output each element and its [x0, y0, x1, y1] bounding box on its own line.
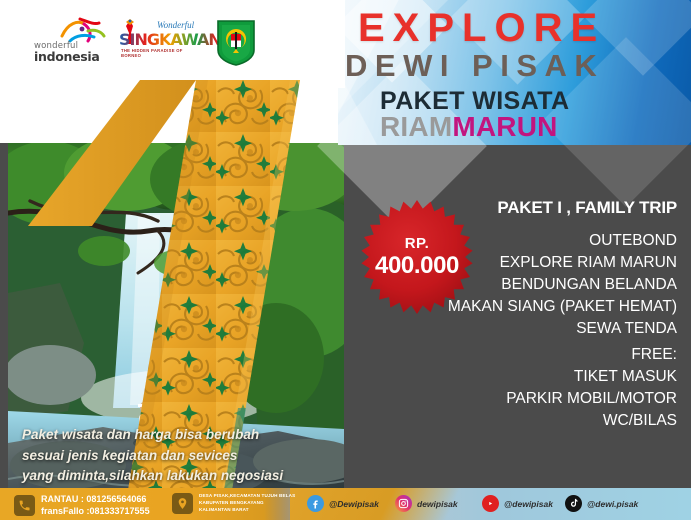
address-line-3: KALIMANTAN BARAT: [199, 507, 295, 514]
phone-line-1: RANTAU : 081256564066: [41, 493, 150, 505]
facebook-icon[interactable]: [307, 495, 324, 512]
address-text-group: DESA PISAK,KECAMATAN TUJUH BELAS KABUPAT…: [199, 493, 295, 514]
free-item: TIKET MASUK: [506, 366, 677, 388]
subtitle-riam-marun: RIAMMARUN: [380, 112, 558, 141]
tiktok-handle: @dewi.pisak: [587, 499, 638, 509]
disclaimer-line-1: Paket wisata dan harga bisa berubah: [22, 425, 352, 446]
address-line-2: KABUPATEN BENGKAYANG: [199, 500, 295, 507]
disclaimer-line-2: sesuai jenis kegiatan dan sevices: [22, 446, 352, 467]
title-dewipisak: DEWI PISAK: [345, 50, 604, 81]
kabupaten-bengkayang-seal-icon: [214, 17, 258, 67]
package-item: OUTEBOND: [448, 230, 677, 252]
package-item-list: OUTEBOND EXPLORE RIAM MARUN BENDUNGAN BE…: [448, 230, 677, 340]
free-inclusions-list: FREE: TIKET MASUK PARKIR MOBIL/MOTOR WC/…: [506, 344, 677, 432]
instagram-handle: dewipisak: [417, 499, 458, 509]
free-item: WC/BILAS: [506, 410, 677, 432]
singkawang-tagline: THE HIDDEN PARADISE OF BORNEO: [121, 48, 203, 58]
wonderful-singkawang-logo: Wonderful SINGKAWANG THE HIDDEN PARADISE…: [119, 17, 203, 67]
facebook-glyph-icon: [310, 498, 321, 509]
title-explore: EXPLORE: [358, 8, 605, 48]
disclaimer-caption: Paket wisata dan harga bisa berubah sesu…: [22, 425, 352, 487]
package-item: BENDUNGAN BELANDA: [448, 274, 677, 296]
wonderful-indonesia-logo: wonderful indonesia: [34, 17, 108, 67]
free-label: FREE:: [506, 344, 677, 366]
location-pin-glyph-icon: [176, 497, 189, 510]
social-youtube[interactable]: @dewipisak: [482, 495, 553, 512]
instagram-glyph-icon: [398, 498, 409, 509]
social-tiktok[interactable]: @dewi.pisak: [565, 495, 638, 512]
package-item: MAKAN SIANG (PAKET HEMAT): [448, 296, 677, 318]
price-amount: 400.000: [375, 254, 459, 278]
location-pin-icon: [172, 493, 193, 514]
wonderful-indonesia-line2: indonesia: [34, 49, 100, 64]
subtitle-marun: MARUN: [452, 111, 557, 142]
package-title: PAKET I , FAMILY TRIP: [497, 198, 677, 218]
free-item: PARKIR MOBIL/MOTOR: [506, 388, 677, 410]
tiktok-glyph-icon: [568, 498, 579, 509]
youtube-icon[interactable]: [482, 495, 499, 512]
footer-bar: RANTAU : 081256564066 fransFallo :081333…: [0, 488, 691, 520]
poster-canvas: wonderful indonesia Wonderful SINGKAWANG…: [0, 0, 691, 520]
phone-glyph-icon: [18, 499, 31, 512]
youtube-glyph-icon: [485, 498, 496, 509]
singkawang-script-word: Wonderful: [157, 20, 194, 30]
social-facebook[interactable]: @Dewipisak: [307, 495, 379, 512]
package-item: SEWA TENDA: [448, 318, 677, 340]
price-currency-label: RP.: [405, 236, 430, 251]
disclaimer-line-3: yang diminta,silahkan lakukan negosiasi: [22, 466, 352, 487]
phone-line-2: fransFallo :081333717555: [41, 505, 150, 517]
contact-phone-block: RANTAU : 081256564066 fransFallo :081333…: [14, 493, 150, 517]
social-instagram[interactable]: dewipisak: [395, 495, 458, 512]
tiktok-icon[interactable]: [565, 495, 582, 512]
address-block: DESA PISAK,KECAMATAN TUJUH BELAS KABUPAT…: [172, 493, 295, 514]
address-line-1: DESA PISAK,KECAMATAN TUJUH BELAS: [199, 493, 295, 500]
youtube-handle: @dewipisak: [504, 499, 553, 509]
phone-text-group: RANTAU : 081256564066 fransFallo :081333…: [41, 493, 150, 517]
package-item: EXPLORE RIAM MARUN: [448, 252, 677, 274]
logo-strip: wonderful indonesia Wonderful SINGKAWANG…: [34, 14, 274, 70]
instagram-icon[interactable]: [395, 495, 412, 512]
phone-icon: [14, 495, 35, 516]
facebook-handle: @Dewipisak: [329, 499, 379, 509]
subtitle-riam: RIAM: [380, 111, 452, 142]
